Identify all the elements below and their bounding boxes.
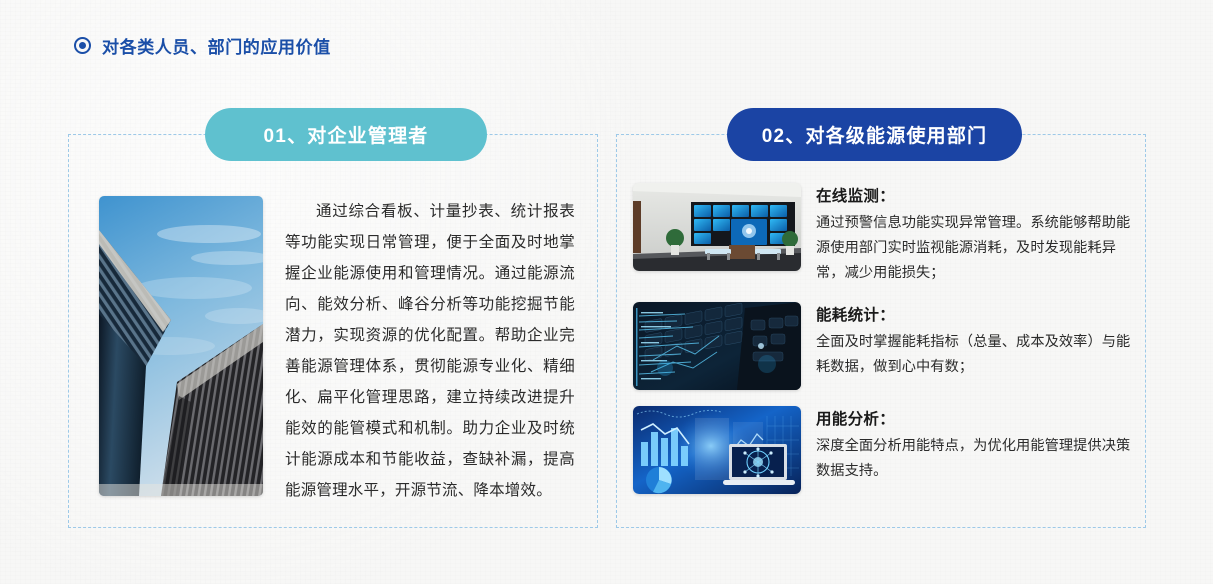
feature-title: 在线监测： — [816, 184, 1131, 206]
feature-text: 能耗统计： 全面及时掌握能耗指标（总量、成本及效率）与能耗数据，做到心中有数； — [816, 302, 1131, 380]
feature-row: 用能分析： 深度全面分析用能特点，为优化用能管理提供决策数据支持。 — [633, 406, 1131, 494]
panel-02-pill[interactable]: 02、对各级能源使用部门 — [727, 108, 1022, 161]
feature-row: 能耗统计： 全面及时掌握能耗指标（总量、成本及效率）与能耗数据，做到心中有数； — [633, 302, 1131, 390]
feature-title: 能耗统计： — [816, 303, 1131, 325]
panels-container: 01、对企业管理者 — [68, 134, 1146, 528]
feature-text: 在线监测： 通过预警信息功能实现异常管理。系统能够帮助能源使用部门实时监视能源消… — [816, 183, 1131, 286]
panel-01-pill-label: 01、对企业管理者 — [264, 121, 429, 148]
feature-row: 在线监测： 通过预警信息功能实现异常管理。系统能够帮助能源使用部门实时监视能源消… — [633, 183, 1131, 286]
feature-desc: 通过预警信息功能实现异常管理。系统能够帮助能源使用部门实时监视能源消耗，及时发现… — [816, 211, 1131, 286]
analytics-dashboard-artwork — [633, 406, 801, 494]
control-room-artwork — [633, 183, 801, 271]
page-title: 对各类人员、部门的应用价值 — [102, 33, 331, 58]
feature-title: 用能分析： — [816, 407, 1131, 429]
control-room-image — [633, 183, 801, 271]
feature-text: 用能分析： 深度全面分析用能特点，为优化用能管理提供决策数据支持。 — [816, 406, 1131, 484]
skyscrapers-image — [99, 196, 263, 496]
skyscrapers-artwork — [99, 196, 263, 496]
keyboard-data-artwork — [633, 302, 801, 390]
panel-02-body: 在线监测： 通过预警信息功能实现异常管理。系统能够帮助能源使用部门实时监视能源消… — [633, 183, 1131, 494]
feature-desc: 深度全面分析用能特点，为优化用能管理提供决策数据支持。 — [816, 434, 1131, 484]
panel-02-pill-label: 02、对各级能源使用部门 — [762, 121, 988, 148]
panel-01-pill[interactable]: 01、对企业管理者 — [205, 108, 487, 161]
feature-desc: 全面及时掌握能耗指标（总量、成本及效率）与能耗数据，做到心中有数； — [816, 330, 1131, 380]
panel-01-body: 通过综合看板、计量抄表、统计报表等功能实现日常管理，便于全面及时地掌握企业能源使… — [99, 196, 575, 506]
bullseye-icon — [74, 37, 91, 54]
keyboard-data-image — [633, 302, 801, 390]
page-header: 对各类人员、部门的应用价值 — [74, 33, 331, 58]
panel-enterprise-managers: 01、对企业管理者 — [68, 134, 598, 528]
panel-01-paragraph: 通过综合看板、计量抄表、统计报表等功能实现日常管理，便于全面及时地掌握企业能源使… — [285, 196, 575, 506]
analytics-dashboard-image — [633, 406, 801, 494]
panel-energy-departments: 02、对各级能源使用部门 — [616, 134, 1146, 528]
